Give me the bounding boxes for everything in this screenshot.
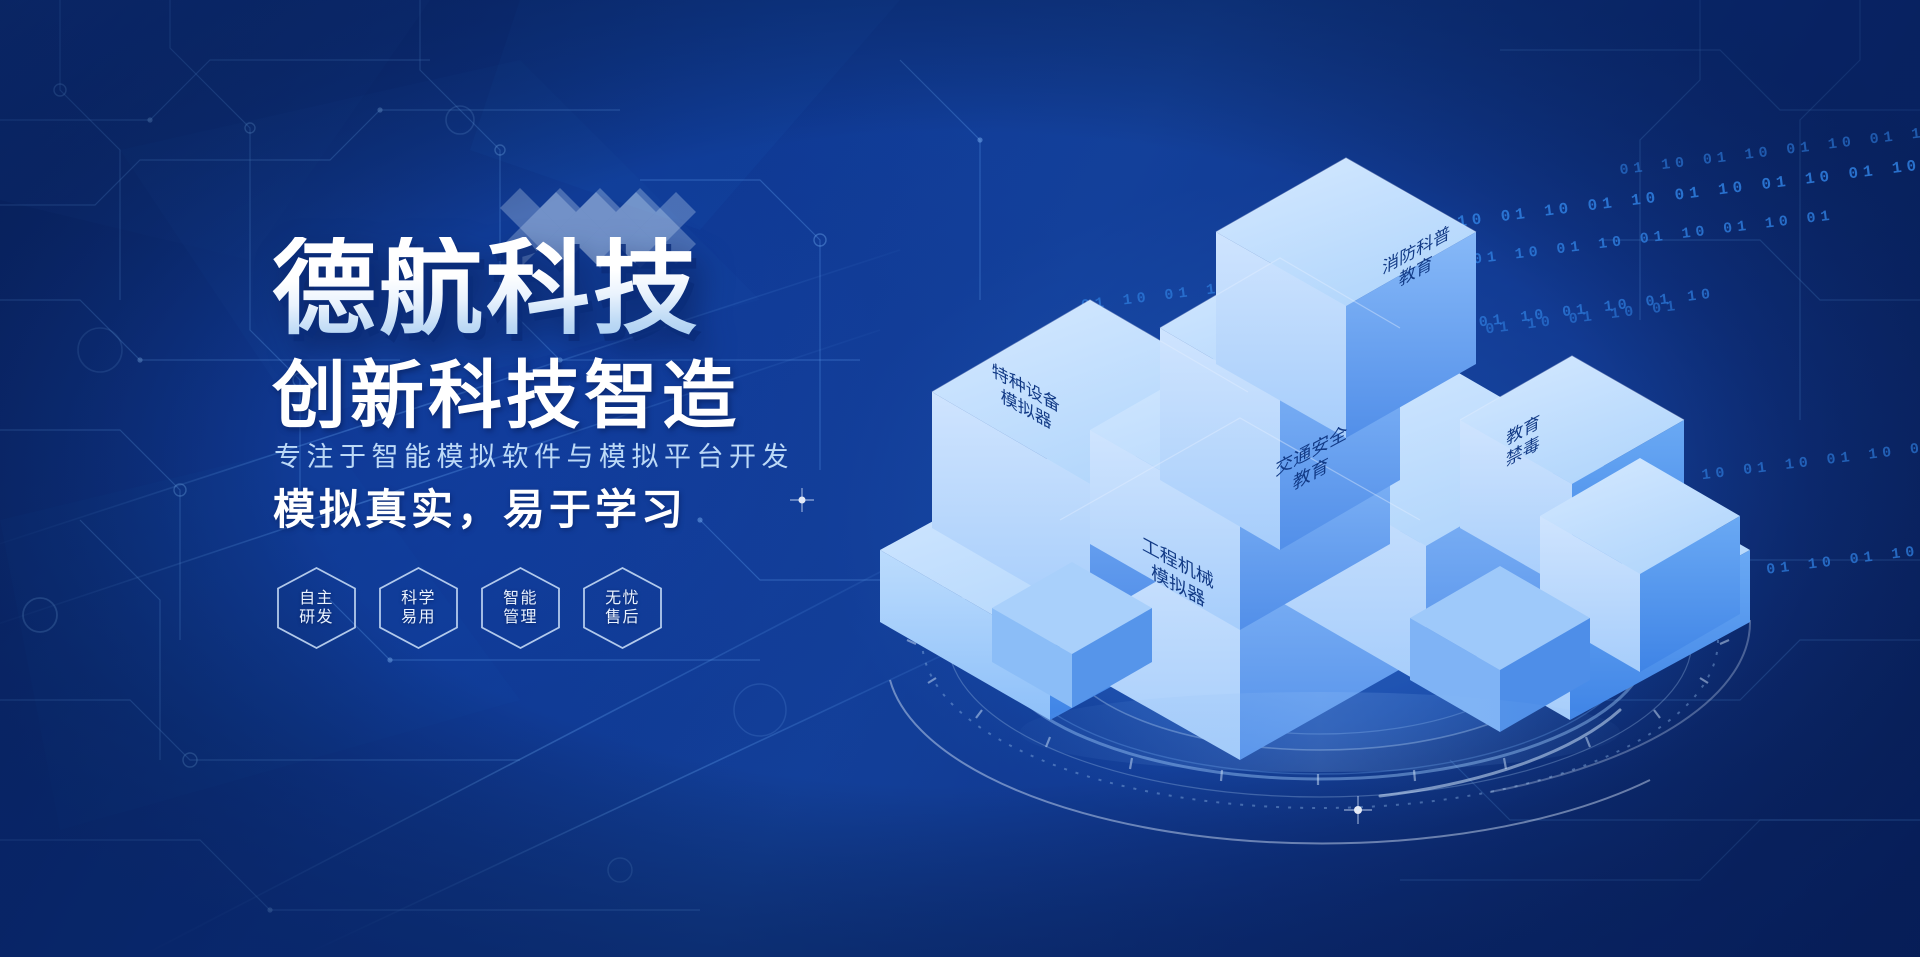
badge-text: 无忧售后 (605, 589, 640, 627)
badge-text: 自主研发 (299, 589, 334, 627)
tagline: 模拟真实，易于学习 (273, 489, 687, 531)
isometric-cube-illustration: 特种设备模拟器 消防科普教育 交通安全教育 工程机械模拟器 教育禁毒 (760, 120, 1920, 880)
badge-text: 科学易用 (401, 589, 436, 627)
subtitle: 专注于智能模拟软件与模拟平台开发 (274, 444, 794, 471)
badge-text: 智能管理 (503, 589, 538, 627)
headline: 创新科技智造 (272, 359, 740, 433)
feature-badge-easy-to-use[interactable]: 科学易用 (376, 566, 461, 650)
cube-stack-graphic (760, 120, 1920, 880)
feature-badge-list: 自主研发 科学易用 智能管理 (274, 566, 665, 650)
feature-badge-after-sales[interactable]: 无忧售后 (580, 566, 665, 650)
hero-banner: 01 10 01 10 01 10 01 10 10 01 10 01 10 0… (0, 0, 1920, 957)
brand-title: 德航科技 (272, 237, 700, 341)
feature-badge-smart-management[interactable]: 智能管理 (478, 566, 563, 650)
feature-badge-self-development[interactable]: 自主研发 (274, 566, 359, 650)
